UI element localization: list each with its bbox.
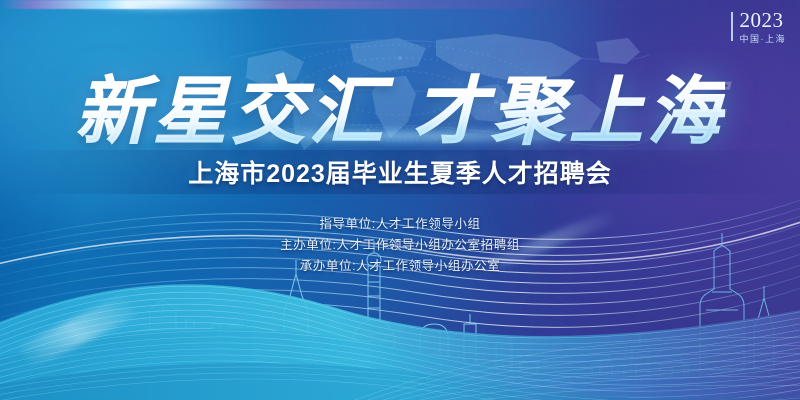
organizer-line-guidance: 指导单位:人才工作领导小组 <box>0 214 800 235</box>
top-light-flare <box>60 0 270 13</box>
organizer-line-organizer: 承办单位:人才工作领导小组办公室 <box>0 256 800 277</box>
title-underglow <box>120 128 680 144</box>
badge-location: 中国·上海 <box>740 35 787 44</box>
badge-divider <box>731 12 733 41</box>
organizer-list: 指导单位:人才工作领导小组 主办单位:人才工作领导小组办公室招聘组 承办单位:人… <box>0 214 800 277</box>
badge-year: 2023 <box>740 10 784 31</box>
organizer-line-host: 主办单位:人才工作领导小组办公室招聘组 <box>0 235 800 256</box>
recruitment-poster: 2023 中国·上海 新星交汇才聚上海 上海市2023届毕业生夏季人才招聘会 指… <box>0 0 800 400</box>
subtitle: 上海市2023届毕业生夏季人才招聘会 <box>0 154 800 190</box>
year-badge: 2023 中国·上海 <box>731 10 787 44</box>
